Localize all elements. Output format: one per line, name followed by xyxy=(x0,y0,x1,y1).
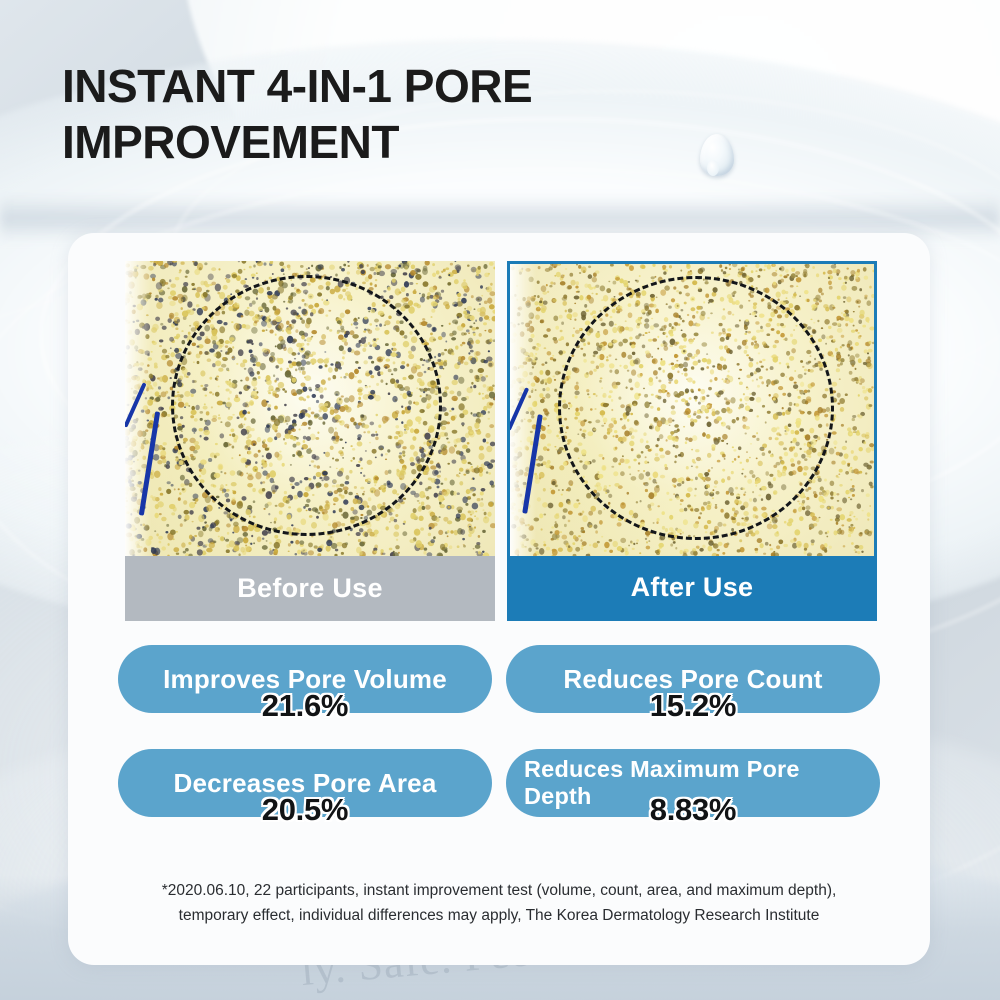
panel-after: After Use xyxy=(507,261,877,621)
stat-value: 15.2% xyxy=(506,688,880,724)
caption-after: After Use xyxy=(510,556,874,618)
footnote-line-1: *2020.06.10, 22 participants, instant im… xyxy=(108,878,890,903)
stat-pill-grid: Improves Pore Volume 21.6% Reduces Pore … xyxy=(118,645,880,853)
panel-before: Before Use xyxy=(125,261,495,621)
region-of-interest-circle-before xyxy=(171,275,442,536)
before-after-comparison: Before Use After Use xyxy=(125,261,880,621)
footnote: *2020.06.10, 22 participants, instant im… xyxy=(108,878,890,928)
stat-decreases-pore-area[interactable]: Decreases Pore Area 20.5% xyxy=(118,749,492,817)
results-card: Before Use After Use Improves Pore Volum… xyxy=(68,233,930,965)
before-left-edge-highlight xyxy=(125,261,151,556)
caption-before: Before Use xyxy=(125,556,495,621)
before-photo xyxy=(125,261,495,556)
stat-value: 21.6% xyxy=(118,688,492,724)
after-photo xyxy=(510,264,874,556)
stat-row-2: Decreases Pore Area 20.5% Reduces Maximu… xyxy=(118,749,880,834)
region-of-interest-circle-after xyxy=(558,276,834,540)
stat-reduces-pore-count[interactable]: Reduces Pore Count 15.2% xyxy=(506,645,880,713)
page-title: Instant 4-in-1 Pore Improvement xyxy=(62,58,682,170)
footnote-line-2: temporary effect, individual differences… xyxy=(108,903,890,928)
stat-value: 20.5% xyxy=(118,792,492,828)
stat-value: 8.83% xyxy=(506,792,880,828)
stat-improves-pore-volume[interactable]: Improves Pore Volume 21.6% xyxy=(118,645,492,713)
stat-row-1: Improves Pore Volume 21.6% Reduces Pore … xyxy=(118,645,880,730)
stat-reduces-maximum-pore-depth[interactable]: Reduces Maximum Pore Depth 8.83% xyxy=(506,749,880,817)
